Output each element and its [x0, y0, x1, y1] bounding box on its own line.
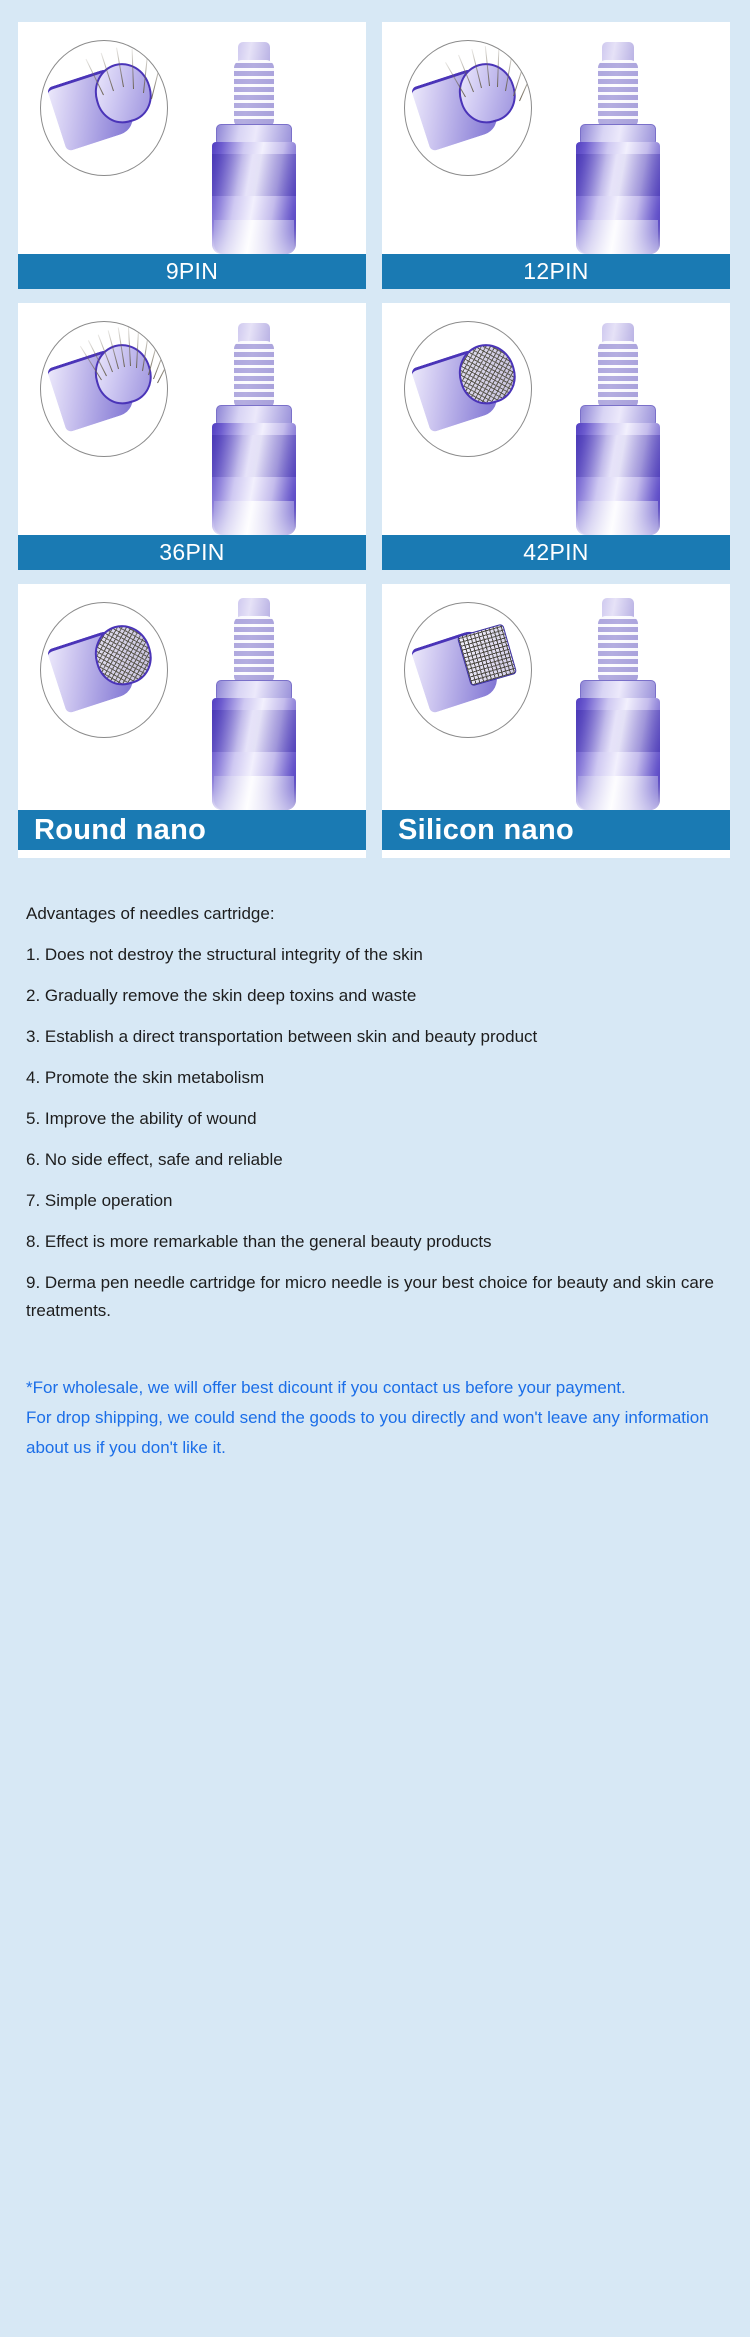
product-card-silicon-nano[interactable]: Silicon nano — [382, 584, 730, 858]
needle-pins-icon — [101, 47, 159, 93]
product-card-42pin[interactable]: 42PIN — [382, 303, 730, 570]
product-label-round-nano: Round nano — [18, 810, 366, 850]
product-variant-grid: 9PIN — [0, 0, 750, 858]
magnifier-circle-icon — [40, 602, 168, 738]
advantage-item-7: 7. Simple operation — [26, 1187, 724, 1215]
wholesale-notice: *For wholesale, we will offer best dicou… — [26, 1373, 724, 1403]
product-card-12pin[interactable]: 12PIN — [382, 22, 730, 289]
cartridge-ribbed-stem — [598, 616, 638, 684]
product-label-12pin: 12PIN — [382, 254, 730, 289]
purchase-notice-section: *For wholesale, we will offer best dicou… — [26, 1373, 724, 1463]
magnifier-circle-icon — [404, 602, 532, 738]
cartridge-tip — [238, 42, 270, 62]
cartridge-ribbed-stem — [234, 341, 274, 409]
product-card-round-nano[interactable]: Round nano — [18, 584, 366, 858]
cartridge-illustration — [572, 323, 664, 535]
cartridge-illustration — [572, 42, 664, 254]
product-label-silicon-nano: Silicon nano — [382, 810, 730, 850]
advantages-heading: Advantages of needles cartridge: — [26, 900, 724, 928]
cartridge-tip — [238, 598, 270, 618]
product-image-round-nano — [18, 584, 366, 810]
magnifier-circle-icon — [40, 321, 168, 457]
product-card-36pin[interactable]: 36PIN — [18, 303, 366, 570]
needle-pins-icon — [465, 47, 523, 93]
cartridge-body — [576, 142, 660, 254]
cartridge-illustration — [208, 598, 300, 810]
product-image-9pin — [18, 22, 366, 254]
needle-pins-icon — [101, 328, 159, 374]
cartridge-body — [212, 142, 296, 254]
cartridge-ribbed-stem — [598, 60, 638, 128]
advantage-item-6: 6. No side effect, safe and reliable — [26, 1146, 724, 1174]
cartridge-ribbed-stem — [598, 341, 638, 409]
cartridge-illustration — [208, 323, 300, 535]
advantage-item-8: 8. Effect is more remarkable than the ge… — [26, 1228, 724, 1256]
product-detail-page: 9PIN — [0, 0, 750, 2337]
cartridge-ribbed-stem — [234, 60, 274, 128]
product-label-9pin: 9PIN — [18, 254, 366, 289]
magnifier-circle-icon — [40, 40, 168, 176]
cartridge-ribbed-stem — [234, 616, 274, 684]
product-card-9pin[interactable]: 9PIN — [18, 22, 366, 289]
cartridge-tip — [602, 323, 634, 343]
advantages-section: Advantages of needles cartridge: 1. Does… — [26, 900, 724, 1325]
advantage-item-5: 5. Improve the ability of wound — [26, 1105, 724, 1133]
product-image-silicon-nano — [382, 584, 730, 810]
cartridge-tip — [602, 598, 634, 618]
magnifier-circle-icon — [404, 321, 532, 457]
product-image-36pin — [18, 303, 366, 535]
advantage-item-1: 1. Does not destroy the structural integ… — [26, 941, 724, 969]
cartridge-tip — [238, 323, 270, 343]
cartridge-body — [212, 698, 296, 810]
advantage-item-9: 9. Derma pen needle cartridge for micro … — [26, 1269, 724, 1325]
product-label-36pin: 36PIN — [18, 535, 366, 570]
cartridge-illustration — [208, 42, 300, 254]
product-label-42pin: 42PIN — [382, 535, 730, 570]
dropshipping-notice: For drop shipping, we could send the goo… — [26, 1403, 724, 1463]
advantage-item-3: 3. Establish a direct transportation bet… — [26, 1023, 724, 1051]
cartridge-body — [212, 423, 296, 535]
cartridge-body — [576, 698, 660, 810]
product-image-42pin — [382, 303, 730, 535]
advantage-item-2: 2. Gradually remove the skin deep toxins… — [26, 982, 724, 1010]
product-image-12pin — [382, 22, 730, 254]
advantage-item-4: 4. Promote the skin metabolism — [26, 1064, 724, 1092]
magnifier-circle-icon — [404, 40, 532, 176]
cartridge-tip — [602, 42, 634, 62]
cartridge-illustration — [572, 598, 664, 810]
cartridge-body — [576, 423, 660, 535]
